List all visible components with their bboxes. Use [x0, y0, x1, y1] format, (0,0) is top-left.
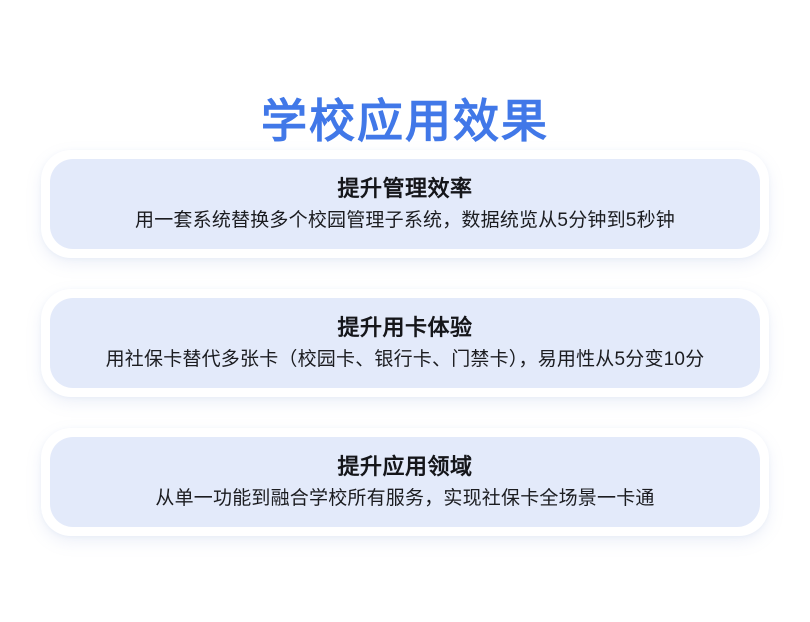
page-title: 学校应用效果 [0, 93, 810, 149]
benefit-card-list: 提升管理效率 用一套系统替换多个校园管理子系统，数据统览从5分钟到5秒钟 提升用… [0, 150, 810, 536]
benefit-card-body: 提升用卡体验 用社保卡替代多张卡（校园卡、银行卡、门禁卡），易用性从5分变10分 [50, 298, 760, 388]
benefit-card-description: 用社保卡替代多张卡（校园卡、银行卡、门禁卡），易用性从5分变10分 [106, 346, 705, 374]
benefit-card-title: 提升用卡体验 [337, 313, 472, 343]
benefit-card-title: 提升管理效率 [337, 174, 472, 204]
benefit-card-2: 提升用卡体验 用社保卡替代多张卡（校园卡、银行卡、门禁卡），易用性从5分变10分 [41, 289, 769, 397]
school-application-effect-page: 学校应用效果 提升管理效率 用一套系统替换多个校园管理子系统，数据统览从5分钟到… [0, 0, 810, 622]
benefit-card-1: 提升管理效率 用一套系统替换多个校园管理子系统，数据统览从5分钟到5秒钟 [41, 150, 769, 258]
benefit-card-3: 提升应用领域 从单一功能到融合学校所有服务，实现社保卡全场景一卡通 [41, 428, 769, 536]
benefit-card-description: 用一套系统替换多个校园管理子系统，数据统览从5分钟到5秒钟 [135, 207, 675, 235]
benefit-card-body: 提升应用领域 从单一功能到融合学校所有服务，实现社保卡全场景一卡通 [50, 437, 760, 527]
benefit-card-body: 提升管理效率 用一套系统替换多个校园管理子系统，数据统览从5分钟到5秒钟 [50, 159, 760, 249]
benefit-card-title: 提升应用领域 [337, 452, 472, 482]
benefit-card-description: 从单一功能到融合学校所有服务，实现社保卡全场景一卡通 [155, 485, 654, 513]
